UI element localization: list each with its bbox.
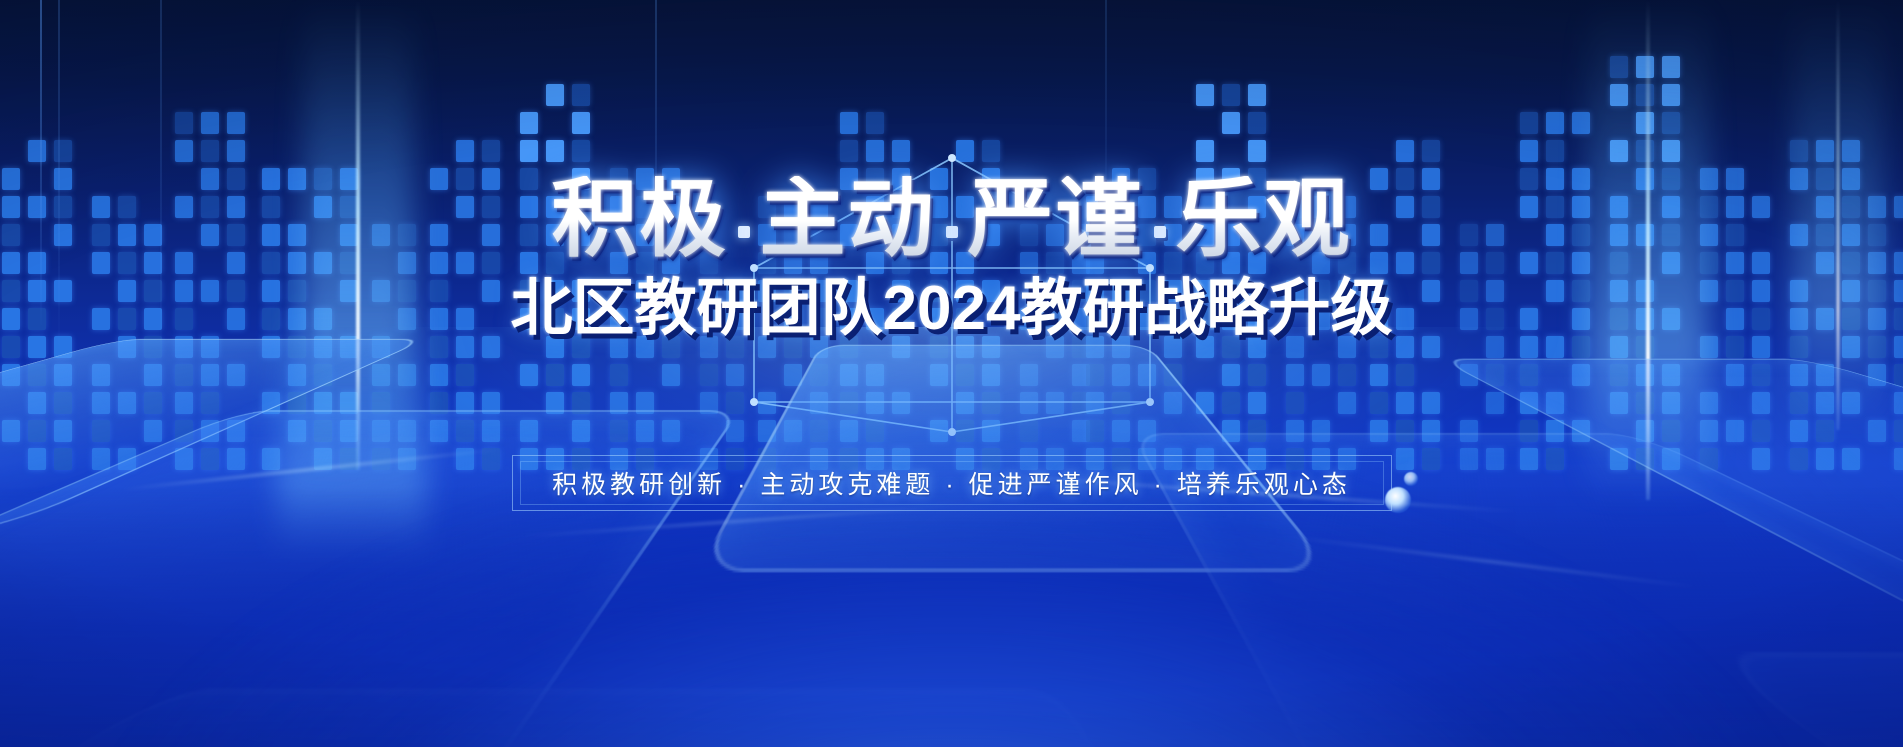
title-separator-3 — [1154, 226, 1166, 238]
banner-content: 积极 主动 严谨 乐观 北区教研团队2024教研战略升级 积极教研创新 · 主动… — [0, 0, 1903, 747]
title-separator-2 — [946, 226, 958, 238]
glow-orb — [1385, 487, 1411, 513]
title-word-2: 主动 — [760, 176, 936, 262]
tagline-box: 积极教研创新 · 主动攻克难题 · 促进严谨作风 · 培养乐观心态 — [512, 455, 1392, 511]
subtitle: 北区教研团队2024教研战略升级 — [0, 276, 1903, 341]
main-title: 积极 主动 严谨 乐观 — [0, 176, 1903, 262]
banner-stage: 积极 主动 严谨 乐观 北区教研团队2024教研战略升级 积极教研创新 · 主动… — [0, 0, 1903, 747]
title-word-1: 积极 — [552, 176, 728, 262]
tagline-text: 积极教研创新 · 主动攻克难题 · 促进严谨作风 · 培养乐观心态 — [512, 455, 1392, 511]
title-word-3: 严谨 — [968, 176, 1144, 262]
title-word-4: 乐观 — [1176, 176, 1352, 262]
glow-orb-small — [1404, 472, 1418, 486]
title-separator-1 — [738, 226, 750, 238]
